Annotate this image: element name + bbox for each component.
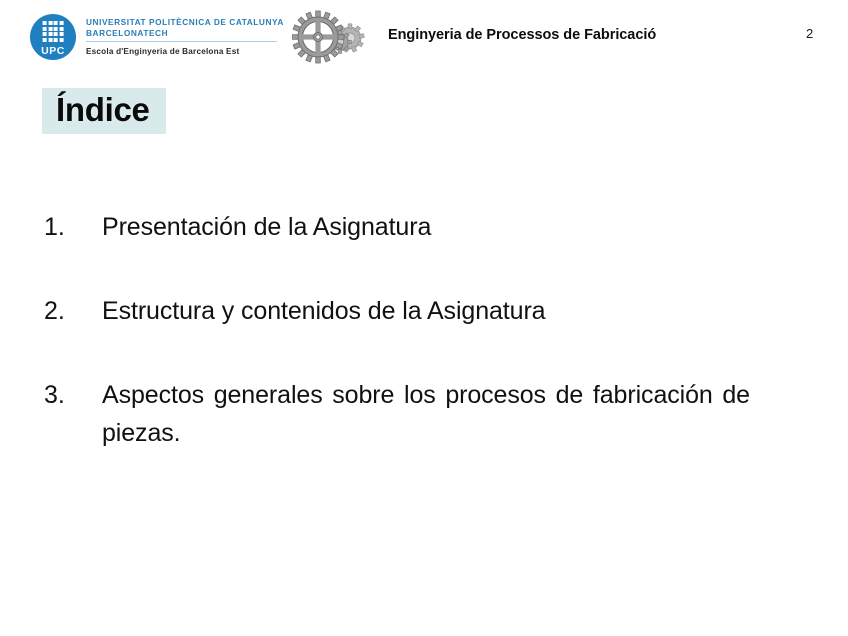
university-name-line: UNIVERSITAT POLITÈCNICA DE CATALUNYA (86, 17, 284, 28)
slide-title: Índice (56, 91, 150, 129)
list-item: 3. Aspectos generales sobre los procesos… (44, 376, 784, 452)
list-item-number: 3. (44, 376, 102, 414)
list-item-number: 2. (44, 292, 102, 330)
page-title: Enginyeria de Processos de Fabricació (388, 27, 656, 43)
barcelonatech-line: BARCELONATECH (86, 28, 284, 39)
upc-brand-text: UNIVERSITAT POLITÈCNICA DE CATALUNYA BAR… (86, 14, 284, 57)
page-number: 2 (806, 26, 813, 41)
upc-logo-icon: UPC (30, 14, 76, 60)
slide-title-highlight: Índice (42, 88, 166, 134)
upc-wordmark: UPC (30, 46, 76, 57)
list-item-label: Aspectos generales sobre los procesos de… (102, 376, 750, 452)
list-item-label: Estructura y contenidos de la Asignatura (102, 292, 784, 330)
school-name-line: Escola d'Enginyeria de Barcelona Est (86, 46, 284, 57)
gears-icon (292, 8, 372, 66)
brand-divider (86, 41, 277, 42)
agenda-list: 1. Presentación de la Asignatura 2. Estr… (44, 208, 784, 452)
list-item: 2. Estructura y contenidos de la Asignat… (44, 292, 784, 330)
list-item-label: Presentación de la Asignatura (102, 208, 784, 246)
slide-header: UPC UNIVERSITAT POLITÈCNICA DE CATALUNYA… (0, 0, 848, 76)
upc-dot-grid-icon (43, 21, 64, 42)
upc-brand-block: UPC UNIVERSITAT POLITÈCNICA DE CATALUNYA… (30, 14, 284, 60)
list-item-number: 1. (44, 208, 102, 246)
list-item: 1. Presentación de la Asignatura (44, 208, 784, 246)
